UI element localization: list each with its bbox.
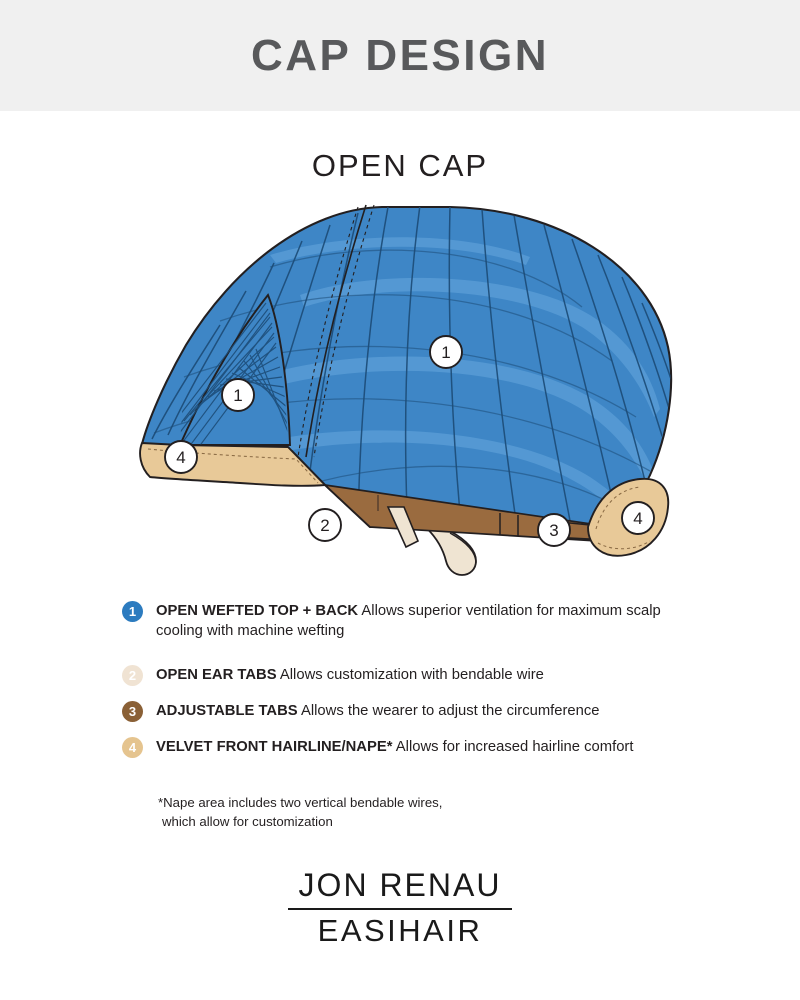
legend-badge-4: 4 (122, 737, 143, 758)
svg-text:1: 1 (441, 343, 450, 362)
svg-text:2: 2 (320, 516, 329, 535)
legend-desc-4: Allows for increased hairline comfort (396, 739, 634, 755)
legend-desc-3: Allows the wearer to adjust the circumfe… (301, 703, 600, 719)
open-cap-diagram: 1 1 4 2 3 (120, 195, 690, 580)
legend-text-2: OPEN EAR TABS Allows customization with … (156, 664, 544, 685)
legend-title-3: ADJUSTABLE TABS (156, 703, 298, 719)
section-subtitle: OPEN CAP (0, 148, 800, 184)
legend-badge-2: 2 (122, 665, 143, 686)
footnote-line-2: which allow for customization (158, 812, 442, 831)
callout-top-left[interactable]: 1 (222, 379, 254, 411)
legend-badge-1: 1 (122, 601, 143, 622)
callout-ear-tab[interactable]: 2 (309, 509, 341, 541)
page-title: CAP DESIGN (251, 31, 549, 81)
cap-design-page: CAP DESIGN OPEN CAP (0, 0, 800, 1000)
brand-logo: JON RENAU EASIHAIR (0, 868, 800, 948)
legend-title-2: OPEN EAR TABS (156, 667, 277, 683)
logo-divider (288, 908, 512, 910)
legend-badge-3: 3 (122, 701, 143, 722)
callout-top-right[interactable]: 1 (430, 336, 462, 368)
callout-nape-left[interactable]: 4 (165, 441, 197, 473)
legend-text-4: VELVET FRONT HAIRLINE/NAPE* Allows for i… (156, 736, 633, 757)
legend-title-4: VELVET FRONT HAIRLINE/NAPE* (156, 739, 393, 755)
svg-text:4: 4 (633, 509, 642, 528)
footnote-line-1: *Nape area includes two vertical bendabl… (158, 793, 442, 812)
legend-list: 1 OPEN WEFTED TOP + BACK Allows superior… (122, 600, 702, 772)
legend-item-3: 3 ADJUSTABLE TABS Allows the wearer to a… (122, 700, 702, 722)
legend-text-1: OPEN WEFTED TOP + BACK Allows superior v… (156, 600, 701, 642)
legend-item-2: 2 OPEN EAR TABS Allows customization wit… (122, 664, 702, 686)
legend-item-1: 1 OPEN WEFTED TOP + BACK Allows superior… (122, 600, 702, 642)
svg-text:1: 1 (233, 386, 242, 405)
callout-nape-right[interactable]: 4 (622, 502, 654, 534)
svg-text:4: 4 (176, 448, 185, 467)
legend-text-3: ADJUSTABLE TABS Allows the wearer to adj… (156, 700, 600, 721)
legend-item-4: 4 VELVET FRONT HAIRLINE/NAPE* Allows for… (122, 736, 702, 758)
brand-name-primary: JON RENAU (0, 868, 800, 903)
callout-adjustable-tab[interactable]: 3 (538, 514, 570, 546)
legend-desc-2: Allows customization with bendable wire (280, 667, 544, 683)
brand-name-secondary: EASIHAIR (0, 914, 800, 948)
footnote: *Nape area includes two vertical bendabl… (158, 793, 442, 831)
svg-text:3: 3 (549, 521, 558, 540)
legend-title-1: OPEN WEFTED TOP + BACK (156, 603, 358, 619)
page-header: CAP DESIGN (0, 0, 800, 111)
